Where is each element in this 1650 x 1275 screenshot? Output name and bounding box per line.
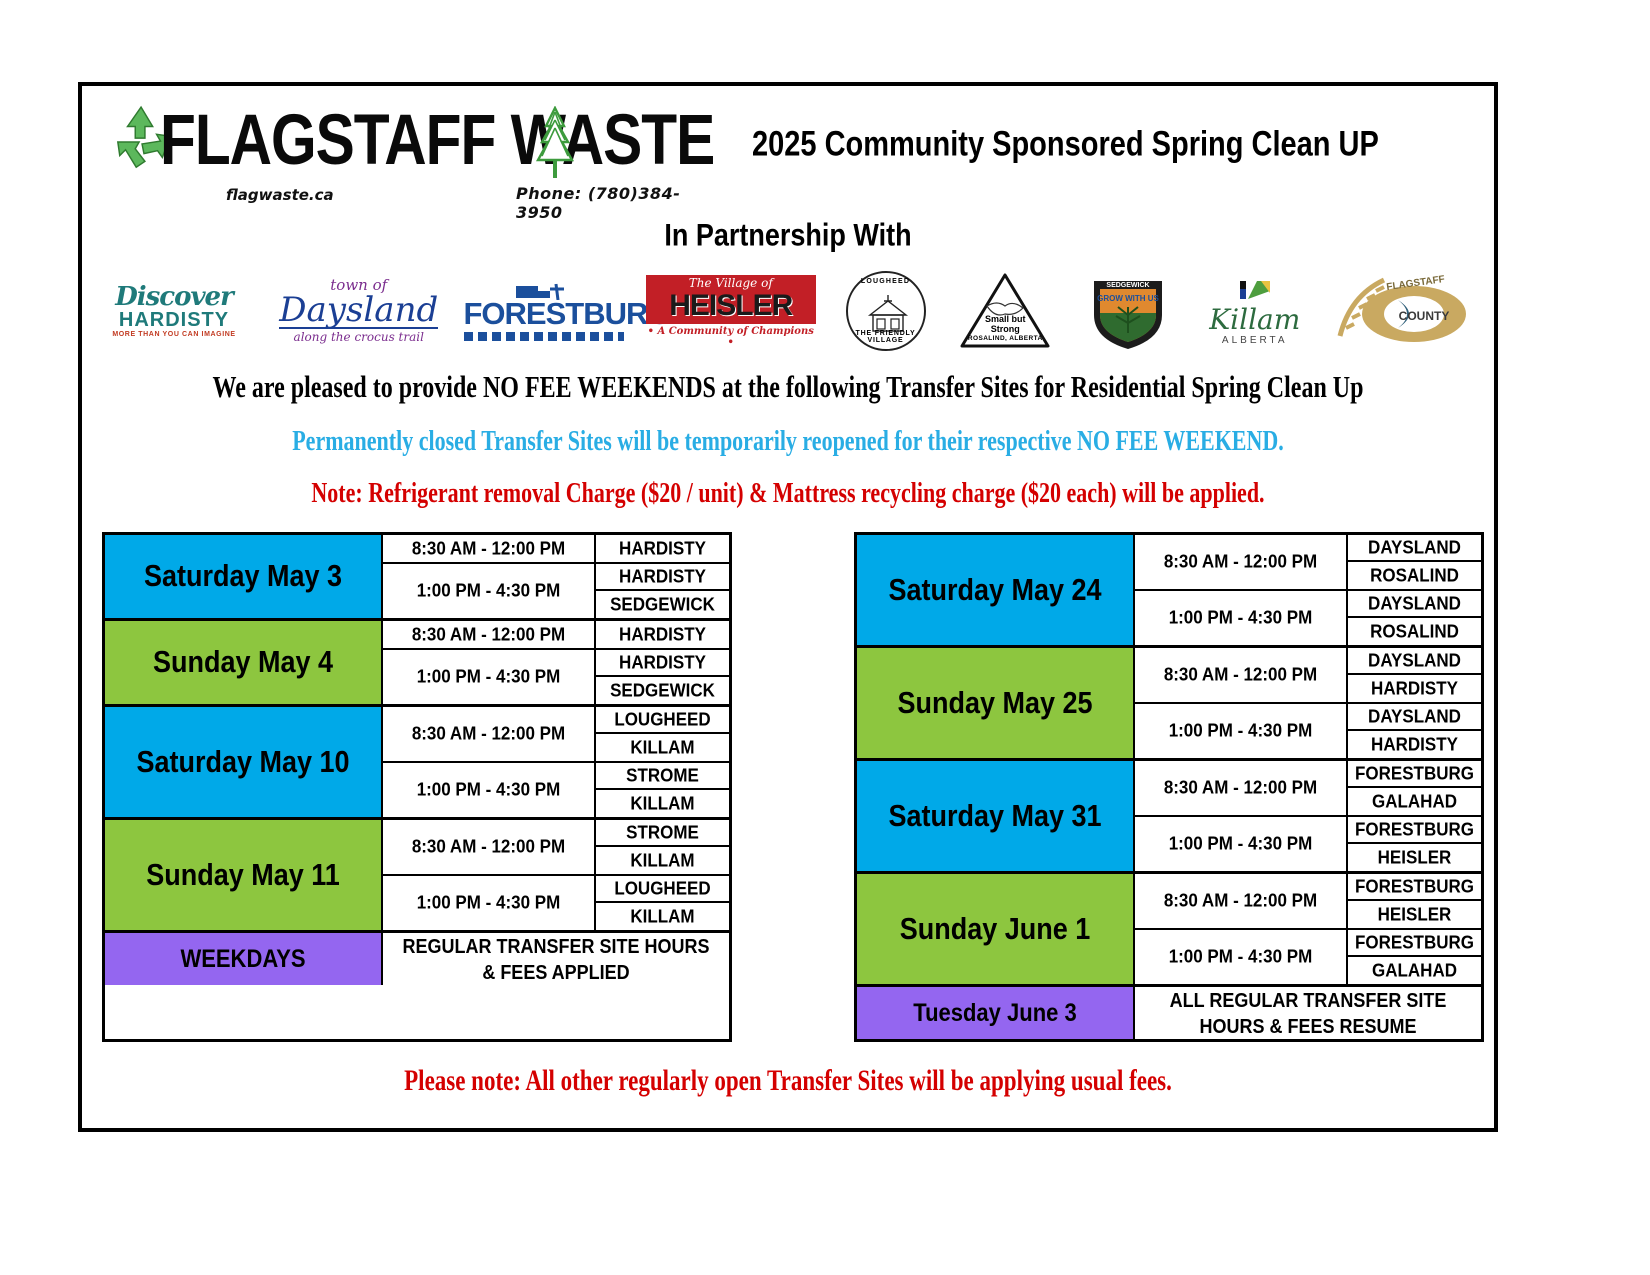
- rosalind-text-block: Small but Strong ROSALIND, ALBERTA: [959, 314, 1051, 344]
- transfer-site-text: KILLAM: [630, 906, 694, 928]
- transfer-site-cell: DAYSLAND: [1348, 648, 1481, 675]
- rosalind-line2: Strong: [959, 324, 1051, 334]
- logo-website: flagwaste.ca: [226, 186, 334, 204]
- time-slot-row: 8:30 AM - 12:00 PMFORESTBURGGALAHAD: [1135, 761, 1481, 817]
- transfer-site-cell: HEISLER: [1348, 844, 1481, 871]
- time-range-cell: 8:30 AM - 12:00 PM: [1135, 874, 1348, 928]
- logo-word-text: FLAGSTAFF WASTE: [160, 100, 714, 180]
- time-slot-list: 8:30 AM - 12:00 PMLOUGHEEDKILLAM1:00 PM …: [383, 707, 729, 817]
- time-range-cell: 1:00 PM - 4:30 PM: [1135, 591, 1348, 645]
- site-list: DAYSLANDHARDISTY: [1348, 648, 1481, 702]
- transfer-site-cell: FORESTBURG: [1348, 761, 1481, 788]
- time-range-text: 8:30 AM - 12:00 PM: [412, 836, 565, 858]
- partner-logo-lougheed: LOUGHEED THE FRIENDLY VILLAGE: [838, 271, 933, 351]
- lougheed-line1: LOUGHEED: [848, 278, 924, 285]
- transfer-site-text: LOUGHEED: [614, 878, 710, 900]
- transfer-site-text: FORESTBURG: [1355, 763, 1474, 785]
- day-label-text: Saturday May 3: [144, 559, 342, 594]
- site-list: FORESTBURGGALAHAD: [1348, 930, 1481, 984]
- time-slot-row: 8:30 AM - 12:00 PMSTROMEKILLAM: [383, 820, 729, 876]
- time-range-text: 8:30 AM - 12:00 PM: [412, 624, 565, 646]
- transfer-site-cell: HEISLER: [1348, 901, 1481, 928]
- church-icon: [864, 293, 912, 333]
- daysland-line3: along the crocus trail: [276, 330, 441, 344]
- day-label-cell: Sunday June 1: [857, 874, 1135, 984]
- time-range-text: 8:30 AM - 12:00 PM: [412, 538, 565, 560]
- transfer-site-text: FORESTBURG: [1355, 876, 1474, 898]
- heisler-line2: HEISLER: [650, 290, 812, 321]
- transfer-site-cell: SEDGEWICK: [596, 591, 729, 618]
- transfer-site-cell: HARDISTY: [1348, 731, 1481, 758]
- site-list: HARDISTYSEDGEWICK: [596, 650, 729, 704]
- transfer-site-text: HARDISTY: [619, 538, 706, 560]
- forestburg-line1: FORESTBURG: [464, 298, 624, 329]
- site-list: DAYSLANDROSALIND: [1348, 535, 1481, 589]
- logo-wordmark: FLAGSTAFF WASTE flagwaste.ca Phone: (780…: [160, 100, 698, 164]
- time-slot-row: 8:30 AM - 12:00 PMDAYSLANDHARDISTY: [1135, 648, 1481, 704]
- transfer-site-text: ROSALIND: [1370, 565, 1459, 587]
- time-slot-row: 1:00 PM - 4:30 PMHARDISTYSEDGEWICK: [383, 650, 729, 704]
- time-range-cell: 1:00 PM - 4:30 PM: [383, 564, 596, 618]
- partner-logo-killam: Killam ALBERTA: [1200, 277, 1310, 346]
- partner-logo-flagstaff-county: FLAGSTAFF COUNTY: [1332, 270, 1482, 352]
- time-slot-row: 8:30 AM - 12:00 PMLOUGHEEDKILLAM: [383, 707, 729, 763]
- transfer-site-text: HEISLER: [1378, 847, 1452, 869]
- transfer-site-text: FORESTBURG: [1355, 932, 1474, 954]
- time-slot-row: 1:00 PM - 4:30 PMFORESTBURGHEISLER: [1135, 817, 1481, 871]
- site-list: HARDISTY: [596, 535, 729, 562]
- time-range-text: 1:00 PM - 4:30 PM: [1169, 946, 1313, 968]
- footer-note-line2: & FEES APPLIED: [482, 957, 629, 987]
- lougheed-line2: THE FRIENDLY VILLAGE: [848, 330, 924, 344]
- time-range-cell: 1:00 PM - 4:30 PM: [1135, 704, 1348, 758]
- transfer-site-text: DAYSLAND: [1368, 650, 1461, 672]
- transfer-site-cell: LOUGHEED: [596, 707, 729, 734]
- time-range-text: 1:00 PM - 4:30 PM: [417, 666, 561, 688]
- transfer-site-cell: DAYSLAND: [1348, 535, 1481, 562]
- transfer-site-cell: LOUGHEED: [596, 876, 729, 903]
- rosalind-triangle: Small but Strong ROSALIND, ALBERTA: [959, 272, 1051, 350]
- time-slot-list: 8:30 AM - 12:00 PMDAYSLANDROSALIND1:00 P…: [1135, 535, 1481, 645]
- time-slot-list: 8:30 AM - 12:00 PMHARDISTY1:00 PM - 4:30…: [383, 621, 729, 704]
- time-range-cell: 8:30 AM - 12:00 PM: [383, 535, 596, 562]
- heisler-red-box: The Village of HEISLER: [646, 275, 816, 324]
- transfer-site-cell: HARDISTY: [596, 564, 729, 591]
- schedule-group: Sunday May 48:30 AM - 12:00 PMHARDISTY1:…: [105, 621, 729, 707]
- site-list: FORESTBURGGALAHAD: [1348, 761, 1481, 815]
- transfer-site-cell: FORESTBURG: [1348, 874, 1481, 901]
- time-slot-row: 8:30 AM - 12:00 PMHARDISTY: [383, 621, 729, 650]
- site-list: STROMEKILLAM: [596, 820, 729, 874]
- schedule-group: Sunday June 18:30 AM - 12:00 PMFORESTBUR…: [857, 874, 1481, 987]
- time-slot-list: 8:30 AM - 12:00 PMSTROMEKILLAM1:00 PM - …: [383, 820, 729, 930]
- time-range-text: 8:30 AM - 12:00 PM: [1164, 777, 1317, 799]
- time-range-text: 1:00 PM - 4:30 PM: [1169, 720, 1313, 742]
- hardisty-line1: Discover: [94, 284, 254, 310]
- time-range-text: 1:00 PM - 4:30 PM: [417, 779, 561, 801]
- transfer-site-cell: KILLAM: [596, 734, 729, 761]
- day-label-text: Saturday May 24: [888, 573, 1101, 608]
- transfer-site-text: DAYSLAND: [1368, 706, 1461, 728]
- time-range-cell: 8:30 AM - 12:00 PM: [1135, 761, 1348, 815]
- time-range-cell: 1:00 PM - 4:30 PM: [1135, 817, 1348, 871]
- day-label-text: Sunday May 11: [146, 858, 340, 893]
- transfer-site-text: DAYSLAND: [1368, 593, 1461, 615]
- time-range-text: 1:00 PM - 4:30 PM: [1169, 607, 1313, 629]
- schedule-group: Saturday May 38:30 AM - 12:00 PMHARDISTY…: [105, 535, 729, 621]
- site-list: DAYSLANDHARDISTY: [1348, 704, 1481, 758]
- time-slot-row: 1:00 PM - 4:30 PMDAYSLANDHARDISTY: [1135, 704, 1481, 758]
- svg-text:COUNTY: COUNTY: [1399, 309, 1450, 323]
- time-range-cell: 8:30 AM - 12:00 PM: [1135, 648, 1348, 702]
- footer-note: Please note: All other regularly open Tr…: [82, 1064, 1494, 1097]
- site-list: HARDISTYSEDGEWICK: [596, 564, 729, 618]
- transfer-site-text: SEDGEWICK: [610, 680, 715, 702]
- transfer-site-text: HARDISTY: [619, 566, 706, 588]
- time-range-text: 8:30 AM - 12:00 PM: [1164, 890, 1317, 912]
- time-slot-row: 1:00 PM - 4:30 PMSTROMEKILLAM: [383, 763, 729, 817]
- transfer-site-text: HARDISTY: [1371, 734, 1458, 756]
- transfer-site-cell: ROSALIND: [1348, 562, 1481, 589]
- schedule-group: Sunday May 258:30 AM - 12:00 PMDAYSLANDH…: [857, 648, 1481, 761]
- day-label-cell: Saturday May 24: [857, 535, 1135, 645]
- transfer-site-cell: FORESTBURG: [1348, 930, 1481, 957]
- schedule-table-left: Saturday May 38:30 AM - 12:00 PMHARDISTY…: [102, 532, 732, 1042]
- time-slot-row: 8:30 AM - 12:00 PMFORESTBURGHEISLER: [1135, 874, 1481, 930]
- transfer-site-cell: HARDISTY: [1348, 675, 1481, 702]
- schedule-footer-group: Tuesday June 3ALL REGULAR TRANSFER SITEH…: [857, 987, 1481, 1039]
- killam-line2: ALBERTA: [1200, 335, 1310, 346]
- notice-line-3: Note: Refrigerant removal Charge ($20 / …: [98, 476, 1478, 509]
- site-list: HARDISTY: [596, 621, 729, 648]
- day-label-cell: Saturday May 10: [105, 707, 383, 817]
- transfer-site-text: DAYSLAND: [1368, 537, 1461, 559]
- partner-logo-rosalind: Small but Strong ROSALIND, ALBERTA: [955, 272, 1055, 350]
- day-label-cell: Saturday May 31: [857, 761, 1135, 871]
- forestburg-bird-icon: [464, 282, 624, 298]
- schedule-tables: Saturday May 38:30 AM - 12:00 PMHARDISTY…: [82, 506, 1494, 1042]
- partnership-heading: In Partnership With: [82, 217, 1494, 254]
- time-range-cell: 8:30 AM - 12:00 PM: [383, 820, 596, 874]
- transfer-site-text: HEISLER: [1378, 904, 1452, 926]
- site-list: FORESTBURGHEISLER: [1348, 817, 1481, 871]
- time-slot-row: 1:00 PM - 4:30 PMFORESTBURGGALAHAD: [1135, 930, 1481, 984]
- schedule-group: Saturday May 248:30 AM - 12:00 PMDAYSLAN…: [857, 535, 1481, 648]
- killam-line1: Killam: [1200, 305, 1310, 335]
- time-slot-list: 8:30 AM - 12:00 PMHARDISTY1:00 PM - 4:30…: [383, 535, 729, 618]
- day-label-cell: Sunday May 4: [105, 621, 383, 704]
- time-slot-row: 8:30 AM - 12:00 PMDAYSLANDROSALIND: [1135, 535, 1481, 591]
- transfer-site-cell: GALAHAD: [1348, 788, 1481, 815]
- hardisty-line3: MORE THAN YOU CAN IMAGINE: [94, 331, 254, 338]
- time-slot-list: 8:30 AM - 12:00 PMDAYSLANDHARDISTY1:00 P…: [1135, 648, 1481, 758]
- notice-line-2: Permanently closed Transfer Sites will b…: [98, 424, 1478, 457]
- lougheed-circle-seal: LOUGHEED THE FRIENDLY VILLAGE: [846, 271, 926, 351]
- time-range-cell: 1:00 PM - 4:30 PM: [383, 763, 596, 817]
- day-label-cell: Saturday May 3: [105, 535, 383, 618]
- schedule-group: Sunday May 118:30 AM - 12:00 PMSTROMEKIL…: [105, 820, 729, 933]
- day-label-cell: Sunday May 11: [105, 820, 383, 930]
- transfer-site-cell: ROSALIND: [1348, 618, 1481, 645]
- transfer-site-text: STROME: [626, 765, 699, 787]
- time-range-text: 1:00 PM - 4:30 PM: [1169, 833, 1313, 855]
- time-slot-row: 1:00 PM - 4:30 PMLOUGHEEDKILLAM: [383, 876, 729, 930]
- time-range-cell: 1:00 PM - 4:30 PM: [383, 876, 596, 930]
- transfer-site-text: KILLAM: [630, 850, 694, 872]
- transfer-site-text: KILLAM: [630, 737, 694, 759]
- transfer-site-text: SEDGEWICK: [610, 594, 715, 616]
- notice-line-1: We are pleased to provide NO FEE WEEKEND…: [98, 371, 1478, 406]
- site-list: LOUGHEEDKILLAM: [596, 707, 729, 761]
- schedule-group: Saturday May 108:30 AM - 12:00 PMLOUGHEE…: [105, 707, 729, 820]
- transfer-site-text: HARDISTY: [619, 652, 706, 674]
- transfer-site-cell: SEDGEWICK: [596, 677, 729, 704]
- transfer-site-text: LOUGHEED: [614, 709, 710, 731]
- transfer-site-cell: HARDISTY: [596, 621, 729, 648]
- transfer-site-text: KILLAM: [630, 793, 694, 815]
- time-slot-list: 8:30 AM - 12:00 PMFORESTBURGHEISLER1:00 …: [1135, 874, 1481, 984]
- poster-container: FLAGSTAFF WASTE flagwaste.ca Phone: (780…: [78, 82, 1498, 1132]
- transfer-site-text: HARDISTY: [1371, 678, 1458, 700]
- day-label-text: Saturday May 31: [888, 799, 1101, 834]
- time-range-text: 1:00 PM - 4:30 PM: [417, 580, 561, 602]
- day-label-text: Sunday June 1: [900, 912, 1091, 947]
- time-range-cell: 1:00 PM - 4:30 PM: [383, 650, 596, 704]
- heisler-line1: The Village of: [650, 277, 812, 290]
- killam-flag-icon: [1237, 277, 1273, 303]
- time-slot-list: 8:30 AM - 12:00 PMFORESTBURGGALAHAD1:00 …: [1135, 761, 1481, 871]
- transfer-site-cell: HARDISTY: [596, 650, 729, 677]
- schedule-group: Saturday May 318:30 AM - 12:00 PMFORESTB…: [857, 761, 1481, 874]
- partner-logo-heisler: The Village of HEISLER • A Community of …: [646, 275, 816, 348]
- site-list: LOUGHEEDKILLAM: [596, 876, 729, 930]
- transfer-site-text: HARDISTY: [619, 624, 706, 646]
- transfer-site-cell: DAYSLAND: [1348, 591, 1481, 618]
- time-slot-row: 1:00 PM - 4:30 PMDAYSLANDROSALIND: [1135, 591, 1481, 645]
- footer-note-cell: ALL REGULAR TRANSFER SITEHOURS & FEES RE…: [1135, 987, 1481, 1039]
- footer-day-label-cell: WEEKDAYS: [105, 933, 383, 985]
- transfer-site-text: GALAHAD: [1372, 960, 1457, 982]
- time-slot-row: 8:30 AM - 12:00 PMHARDISTY: [383, 535, 729, 564]
- footer-note-cell: REGULAR TRANSFER SITE HOURS& FEES APPLIE…: [383, 933, 729, 985]
- partner-logo-sedgewick: SEDGEWICK GROW WITH US: [1078, 271, 1178, 351]
- footer-day-label-cell: Tuesday June 3: [857, 987, 1135, 1039]
- forestburg-bars-icon: [464, 332, 624, 341]
- time-range-text: 1:00 PM - 4:30 PM: [417, 892, 561, 914]
- day-label-text: Sunday May 25: [897, 686, 1092, 721]
- day-label-text: Sunday May 4: [153, 645, 333, 680]
- time-range-cell: 1:00 PM - 4:30 PM: [1135, 930, 1348, 984]
- transfer-site-cell: KILLAM: [596, 790, 729, 817]
- rosalind-line1: Small but: [959, 314, 1051, 324]
- transfer-site-text: STROME: [626, 822, 699, 844]
- transfer-site-cell: GALAHAD: [1348, 957, 1481, 984]
- daysland-line2: Daysland: [279, 293, 438, 329]
- time-range-text: 8:30 AM - 12:00 PM: [412, 723, 565, 745]
- transfer-site-cell: FORESTBURG: [1348, 817, 1481, 844]
- flagstaff-waste-logo: FLAGSTAFF WASTE flagwaste.ca Phone: (780…: [112, 100, 722, 196]
- time-range-cell: 8:30 AM - 12:00 PM: [1135, 535, 1348, 589]
- notice-block: We are pleased to provide NO FEE WEEKEND…: [82, 351, 1494, 506]
- site-list: FORESTBURGHEISLER: [1348, 874, 1481, 928]
- site-list: DAYSLANDROSALIND: [1348, 591, 1481, 645]
- transfer-site-text: GALAHAD: [1372, 791, 1457, 813]
- day-label-cell: Sunday May 25: [857, 648, 1135, 758]
- transfer-site-cell: STROME: [596, 763, 729, 790]
- svg-text:SEDGEWICK: SEDGEWICK: [1106, 282, 1149, 289]
- partner-logo-forestburg: FORESTBURG: [464, 282, 624, 341]
- hardisty-line2: HARDISTY: [94, 310, 254, 331]
- page-title: 2025 Community Sponsored Spring Clean UP: [752, 125, 1379, 165]
- footer-note-line2: HOURS & FEES RESUME: [1199, 1011, 1416, 1041]
- day-label-text: Saturday May 10: [136, 745, 349, 780]
- poster-header: FLAGSTAFF WASTE flagwaste.ca Phone: (780…: [82, 86, 1494, 198]
- svg-text:GROW WITH US: GROW WITH US: [1097, 294, 1159, 303]
- rosalind-line3: ROSALIND, ALBERTA: [959, 334, 1051, 344]
- schedule-footer-group: WEEKDAYSREGULAR TRANSFER SITE HOURS& FEE…: [105, 933, 729, 985]
- time-range-cell: 8:30 AM - 12:00 PM: [383, 621, 596, 648]
- partner-logo-daysland: town of Daysland along the crocus trail: [276, 278, 441, 344]
- partner-logo-row: Discover HARDISTY MORE THAN YOU CAN IMAG…: [82, 267, 1494, 351]
- sedgewick-shield-icon: SEDGEWICK GROW WITH US: [1084, 271, 1172, 351]
- transfer-site-cell: DAYSLAND: [1348, 704, 1481, 731]
- heisler-line3: • A Community of Champions •: [646, 326, 816, 348]
- schedule-table-right: Saturday May 248:30 AM - 12:00 PMDAYSLAN…: [854, 532, 1484, 1042]
- footer-day-label-text: WEEKDAYS: [180, 944, 305, 973]
- time-slot-row: 1:00 PM - 4:30 PMHARDISTYSEDGEWICK: [383, 564, 729, 618]
- transfer-site-cell: KILLAM: [596, 903, 729, 930]
- partner-logo-discover-hardisty: Discover HARDISTY MORE THAN YOU CAN IMAG…: [94, 284, 254, 338]
- transfer-site-cell: STROME: [596, 820, 729, 847]
- time-range-cell: 8:30 AM - 12:00 PM: [383, 707, 596, 761]
- site-list: STROMEKILLAM: [596, 763, 729, 817]
- transfer-site-text: ROSALIND: [1370, 621, 1459, 643]
- time-range-text: 8:30 AM - 12:00 PM: [1164, 664, 1317, 686]
- time-range-text: 8:30 AM - 12:00 PM: [1164, 551, 1317, 573]
- footer-day-label-text: Tuesday June 3: [913, 998, 1076, 1027]
- transfer-site-cell: HARDISTY: [596, 535, 729, 562]
- pine-tree-icon: [531, 106, 579, 180]
- county-emblem-icon: FLAGSTAFF COUNTY: [1332, 270, 1474, 352]
- transfer-site-cell: KILLAM: [596, 847, 729, 874]
- transfer-site-text: FORESTBURG: [1355, 819, 1474, 841]
